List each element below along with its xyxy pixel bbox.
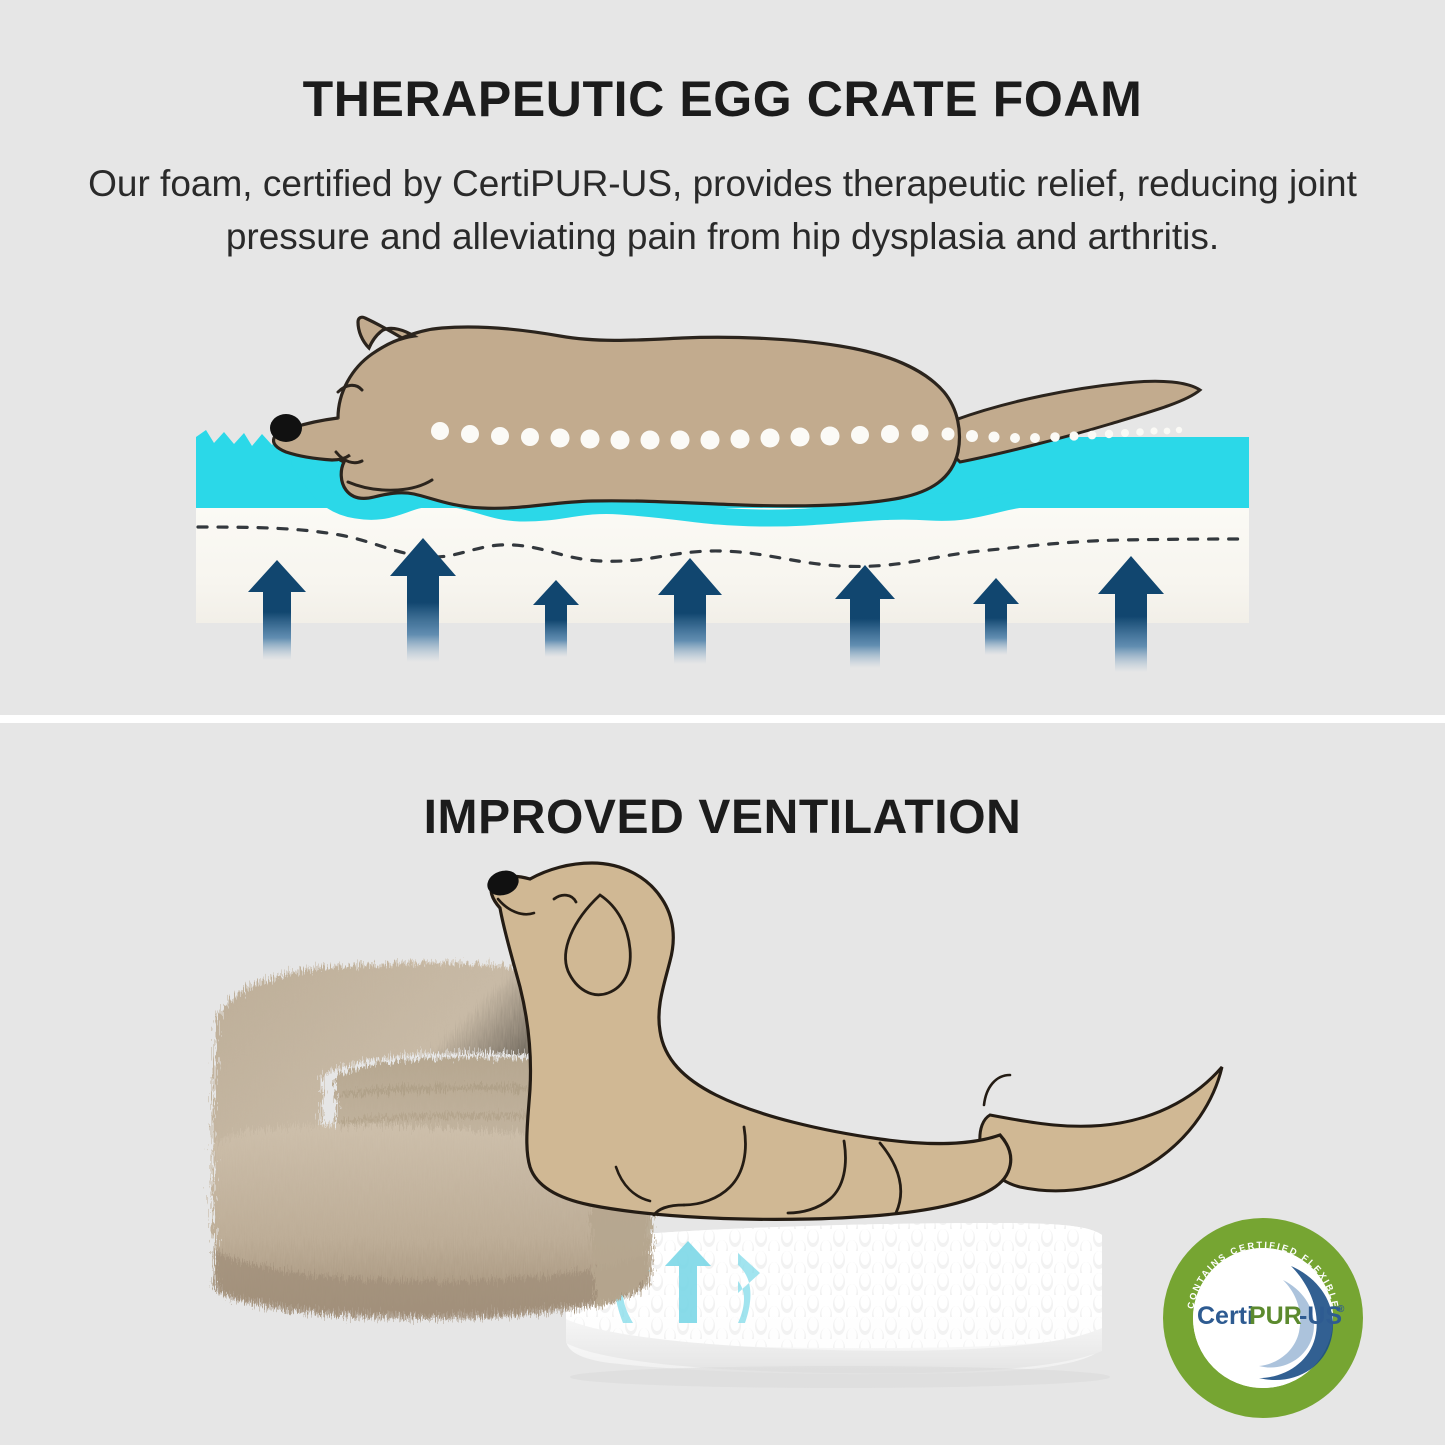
svg-text:®: ®: [1337, 1304, 1345, 1315]
dog-body: [330, 317, 960, 508]
panel-divider: [0, 715, 1445, 723]
svg-text:PUR: PUR: [1249, 1302, 1302, 1330]
certipur-us-badge: CONTAINS CERTIFIED FLEXIBLE POLYURETHANE…: [1168, 1220, 1352, 1407]
dog-tail-side: [980, 1067, 1222, 1191]
badge-wordmark: Certi PUR -US ®: [1197, 1302, 1345, 1330]
svg-text:Certi: Certi: [1197, 1302, 1254, 1330]
panel-therapeutic-foam: THERAPEUTIC EGG CRATE FOAM Our foam, cer…: [0, 0, 1445, 715]
infographic-page: THERAPEUTIC EGG CRATE FOAM Our foam, cer…: [0, 0, 1445, 1445]
egg-crate-base-layer: [196, 508, 1249, 623]
dog-tail-base-line: [984, 1075, 1010, 1105]
svg-text:-US: -US: [1299, 1302, 1342, 1330]
dog-side-view: [484, 863, 1222, 1219]
dog-on-foam-cross-section-illustration: [0, 0, 1445, 715]
dog-body-side: [491, 863, 1011, 1219]
dog-on-bolster-bed-illustration: CONTAINS CERTIFIED FLEXIBLE POLYURETHANE…: [0, 723, 1445, 1445]
dog-nose: [270, 414, 302, 442]
panel-improved-ventilation: IMPROVED VENTILATION: [0, 723, 1445, 1445]
